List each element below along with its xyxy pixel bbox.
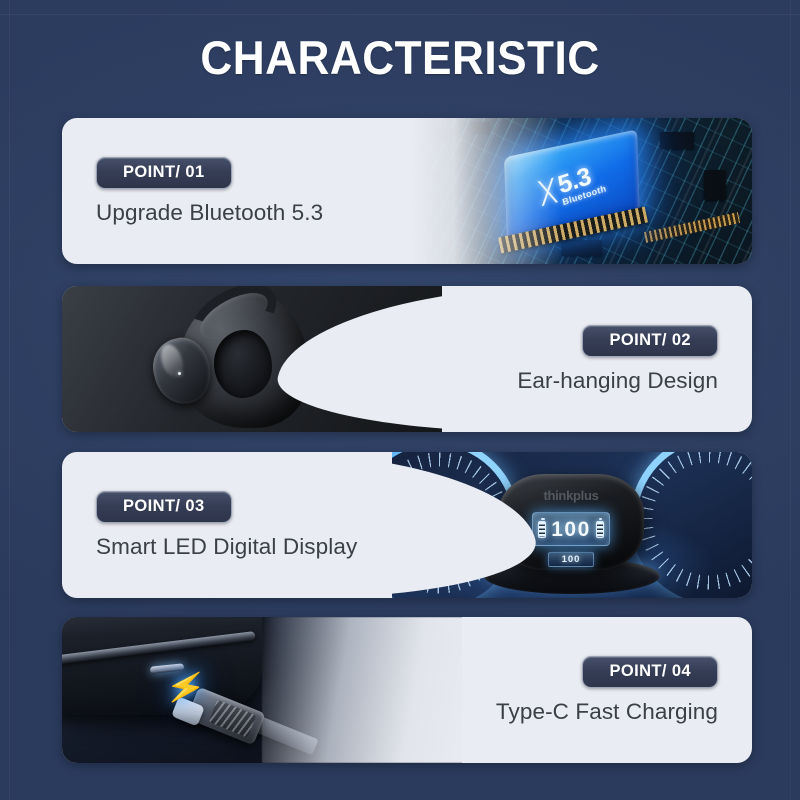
led-secondary-readout: 100 <box>548 552 594 567</box>
point-badge-4: POINT/ 04 <box>582 656 718 688</box>
pcb-component-icon <box>562 240 602 256</box>
page-title: CHARACTERISTIC <box>24 33 776 82</box>
feature-caption-2: Ear-hanging Design <box>517 368 718 394</box>
bluetooth-icon: ᚷ <box>538 177 558 208</box>
feature-card-3: thinkplus 100 100 POINT/ 03 Smart LED Di… <box>62 452 752 598</box>
card-4-text: POINT/ 04 Type-C Fast Charging <box>332 617 752 763</box>
battery-icon <box>538 521 546 538</box>
feature-card-4: ⚡ POINT/ 04 Type-C Fast Charging <box>62 617 752 763</box>
point-badge-1: POINT/ 01 <box>96 157 232 189</box>
point-badge-2: POINT/ 02 <box>582 325 718 357</box>
card-2-text: POINT/ 02 Ear-hanging Design <box>332 286 752 432</box>
infographic-page: CHARACTERISTIC ᚷ 5.3 Bluetooth <box>0 0 800 800</box>
feature-card-2: POINT/ 02 Ear-hanging Design <box>62 286 752 432</box>
feature-caption-1: Upgrade Bluetooth 5.3 <box>96 200 323 226</box>
feature-caption-3: Smart LED Digital Display <box>96 534 357 560</box>
card-3-text: POINT/ 03 Smart LED Digital Display <box>62 452 482 598</box>
feature-card-1: ᚷ 5.3 Bluetooth POINT/ 01 Upgrade Blueto… <box>62 118 752 264</box>
case-brand-label: thinkplus <box>498 488 644 503</box>
led-battery-percent: 100 <box>551 519 591 540</box>
battery-icon <box>596 521 604 538</box>
lightning-bolt-icon: ⚡ <box>163 667 209 707</box>
point-badge-3: POINT/ 03 <box>96 491 232 523</box>
pcb-component-icon <box>704 170 726 200</box>
led-display: 100 <box>532 512 610 546</box>
pcb-component-icon <box>660 132 694 149</box>
earbud-led-dot-icon <box>178 372 181 375</box>
plug-grip-ridges <box>209 700 257 738</box>
chip-text: 5.3 Bluetooth <box>556 161 608 207</box>
feature-caption-4: Type-C Fast Charging <box>496 699 718 725</box>
card-1-text: POINT/ 01 Upgrade Bluetooth 5.3 <box>62 118 482 264</box>
